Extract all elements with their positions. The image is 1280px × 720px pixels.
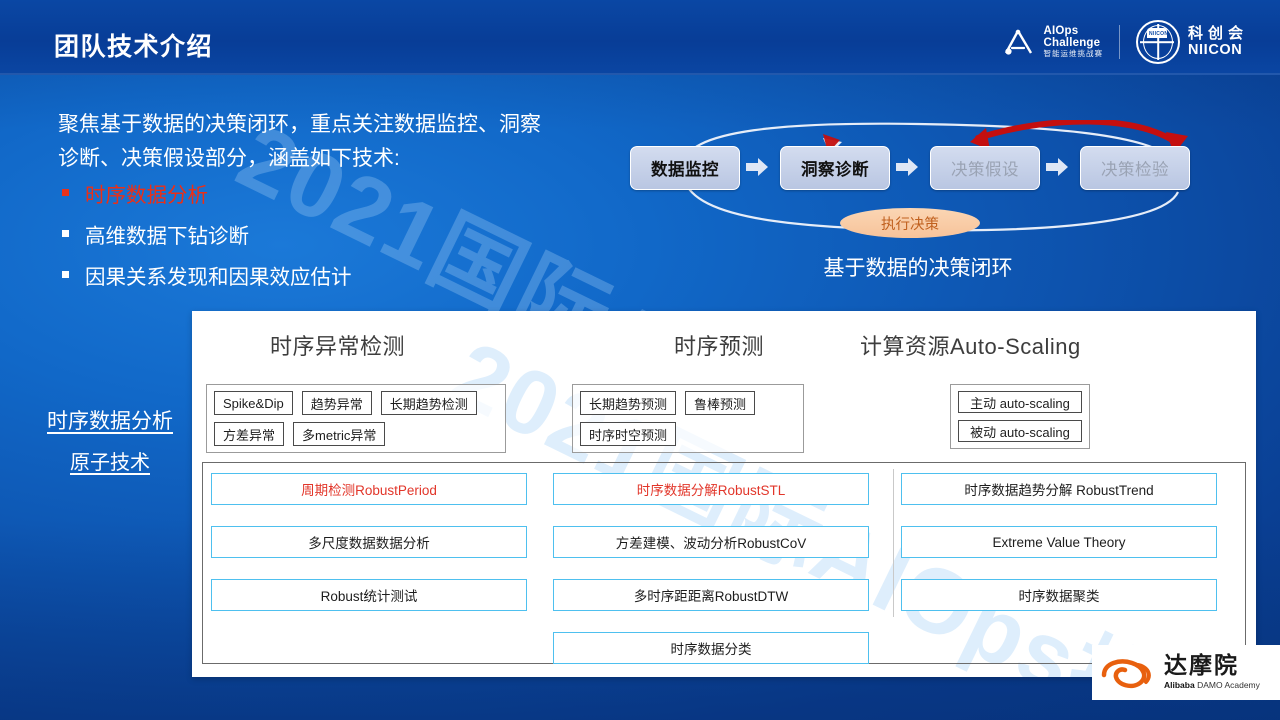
bullet-square-icon: [62, 271, 69, 278]
niicon-badge-text: NIICON: [1149, 31, 1168, 37]
header-divider: [0, 73, 1280, 75]
tag-item[interactable]: 被动 auto-scaling: [958, 420, 1082, 442]
niicon-badge: NIICON: [1147, 28, 1167, 38]
damo-english: Alibaba DAMO Academy: [1164, 681, 1260, 690]
tech-box[interactable]: 周期检测RobustPeriod: [211, 473, 527, 505]
flow-arrow-icon: [896, 158, 918, 176]
aiops-line1: AIOps: [1043, 26, 1103, 38]
bullet-list: 时序数据分析 高维数据下钻诊断 因果关系发现和因果效应估计: [62, 178, 352, 301]
flow-node-decision-hypothesis[interactable]: 决策假设: [930, 146, 1040, 190]
list-item: 因果关系发现和因果效应估计: [62, 260, 352, 290]
flow-node-label: 决策假设: [951, 156, 1019, 180]
bullet-label: 时序数据分析: [85, 178, 208, 208]
tech-matrix-panel: 2021国际AIOps挑战赛 时序异常检测 时序预测 计算资源Auto-Scal…: [192, 311, 1256, 677]
side-label-line2: 原子技术: [30, 446, 190, 475]
bullet-square-icon: [62, 189, 69, 196]
globe-icon: NIICON: [1136, 20, 1180, 64]
page-title: 团队技术介绍: [54, 27, 213, 63]
column-heading-autoscaling: 计算资源Auto-Scaling: [860, 329, 1081, 361]
column-heading-forecast: 时序预测: [674, 329, 764, 361]
flow-node-data-monitoring[interactable]: 数据监控: [630, 146, 740, 190]
aiops-logo: AIOps Challenge 智能运维挑战赛: [1002, 26, 1103, 58]
bullet-square-icon: [62, 230, 69, 237]
flow-arrow-icon: [1046, 158, 1068, 176]
damo-academy-logo: 达摩院 Alibaba DAMO Academy: [1092, 645, 1280, 700]
grid-divider: [893, 469, 894, 617]
tag-item[interactable]: 趋势异常: [302, 391, 372, 415]
tech-box[interactable]: 时序数据趋势分解 RobustTrend: [901, 473, 1217, 505]
tag-item[interactable]: 鲁棒预测: [685, 391, 755, 415]
flow-node-insight-diagnosis[interactable]: 洞察诊断: [780, 146, 890, 190]
section-side-label: 时序数据分析 原子技术: [30, 405, 190, 475]
flow-node-label: 决策检验: [1101, 156, 1169, 180]
niicon-chinese: 科创会: [1188, 26, 1248, 42]
tag-row: Spike&Dip 趋势异常 长期趋势检测: [214, 391, 498, 415]
tech-box[interactable]: 时序数据分类: [553, 632, 869, 664]
bullet-label: 高维数据下钻诊断: [85, 219, 249, 249]
damo-swirl-icon: [1098, 655, 1156, 691]
atomic-tech-grid: 周期检测RobustPeriod 多尺度数据数据分析 Robust统计测试 时序…: [202, 462, 1246, 664]
tag-group-anomaly: Spike&Dip 趋势异常 长期趋势检测 方差异常 多metric异常: [206, 384, 506, 453]
header-bar: 团队技术介绍 AIOps Challenge 智能运维挑战赛: [0, 0, 1280, 75]
tag-item[interactable]: 多metric异常: [293, 422, 385, 446]
tag-row: 长期趋势预测 鲁棒预测: [580, 391, 796, 415]
tag-group-forecast: 长期趋势预测 鲁棒预测 时序时空预测: [572, 384, 804, 453]
bullet-label: 因果关系发现和因果效应估计: [85, 260, 352, 290]
damo-chinese: 达摩院: [1164, 655, 1260, 678]
aiops-line2: Challenge: [1043, 38, 1103, 50]
tag-item[interactable]: 主动 auto-scaling: [958, 391, 1082, 413]
tag-item[interactable]: 长期趋势预测: [580, 391, 676, 415]
flow-caption: 基于数据的决策闭环: [618, 252, 1218, 282]
tech-box[interactable]: 时序数据聚类: [901, 579, 1217, 611]
damo-brand: Alibaba: [1164, 680, 1195, 690]
tech-box[interactable]: 时序数据分解RobustSTL: [553, 473, 869, 505]
damo-suffix: DAMO Academy: [1195, 680, 1260, 690]
damo-logo-text: 达摩院 Alibaba DAMO Academy: [1164, 655, 1260, 690]
tag-item[interactable]: Spike&Dip: [214, 391, 293, 415]
aiops-triangle-icon: [1002, 26, 1036, 58]
list-item: 时序数据分析: [62, 178, 352, 208]
flow-node-label: 洞察诊断: [801, 156, 869, 180]
flow-node-decision-validation[interactable]: 决策检验: [1080, 146, 1190, 190]
flow-node-label: 数据监控: [651, 156, 719, 180]
tech-box[interactable]: 方差建模、波动分析RobustCoV: [553, 526, 869, 558]
tech-box[interactable]: 多尺度数据数据分析: [211, 526, 527, 558]
execute-decision-badge: 执行决策: [840, 208, 980, 238]
tech-box[interactable]: 多时序距距离RobustDTW: [553, 579, 869, 611]
tag-item[interactable]: 时序时空预测: [580, 422, 676, 446]
tag-item[interactable]: 长期趋势检测: [381, 391, 477, 415]
logo-group: AIOps Challenge 智能运维挑战赛 NIICON 科创会 NIICO…: [1002, 20, 1248, 64]
lead-paragraph: 聚焦基于数据的决策闭环，重点关注数据监控、洞察诊断、决策假设部分，涵盖如下技术:: [58, 108, 558, 176]
slide-root: 2021国际AIOps挑战赛 团队技术介绍 AIOps Challenge 智能…: [0, 0, 1280, 720]
aiops-line3: 智能运维挑战赛: [1043, 50, 1103, 58]
tag-row: 方差异常 多metric异常: [214, 422, 498, 446]
logo-separator: [1119, 25, 1120, 59]
tech-box[interactable]: Extreme Value Theory: [901, 526, 1217, 558]
tag-item[interactable]: 方差异常: [214, 422, 284, 446]
list-item: 高维数据下钻诊断: [62, 219, 352, 249]
grid-column-autoscaling: 时序数据趋势分解 RobustTrend Extreme Value Theor…: [901, 473, 1217, 611]
column-heading-anomaly: 时序异常检测: [270, 329, 405, 361]
grid-column-forecast: 时序数据分解RobustSTL 方差建模、波动分析RobustCoV 多时序距距…: [553, 473, 869, 664]
tag-row: 时序时空预测: [580, 422, 796, 446]
decision-loop-diagram: 数据监控 洞察诊断 决策假设 决策检验 执行决策: [618, 120, 1218, 240]
tech-box[interactable]: Robust统计测试: [211, 579, 527, 611]
tag-row: 主动 auto-scaling: [958, 391, 1082, 413]
niicon-english: NIICON: [1188, 43, 1248, 58]
niicon-logo: NIICON 科创会 NIICON: [1136, 20, 1248, 64]
niicon-logo-text: 科创会 NIICON: [1188, 26, 1248, 58]
side-label-line1: 时序数据分析: [30, 405, 190, 435]
flow-arrow-icon: [746, 158, 768, 176]
aiops-logo-text: AIOps Challenge 智能运维挑战赛: [1043, 26, 1103, 58]
tag-row: 被动 auto-scaling: [958, 420, 1082, 442]
column-headings: 时序异常检测 时序预测 计算资源Auto-Scaling: [192, 329, 1256, 365]
execute-decision-label: 执行决策: [881, 213, 939, 234]
grid-column-anomaly: 周期检测RobustPeriod 多尺度数据数据分析 Robust统计测试: [211, 473, 527, 611]
tag-group-autoscaling: 主动 auto-scaling 被动 auto-scaling: [950, 384, 1090, 449]
